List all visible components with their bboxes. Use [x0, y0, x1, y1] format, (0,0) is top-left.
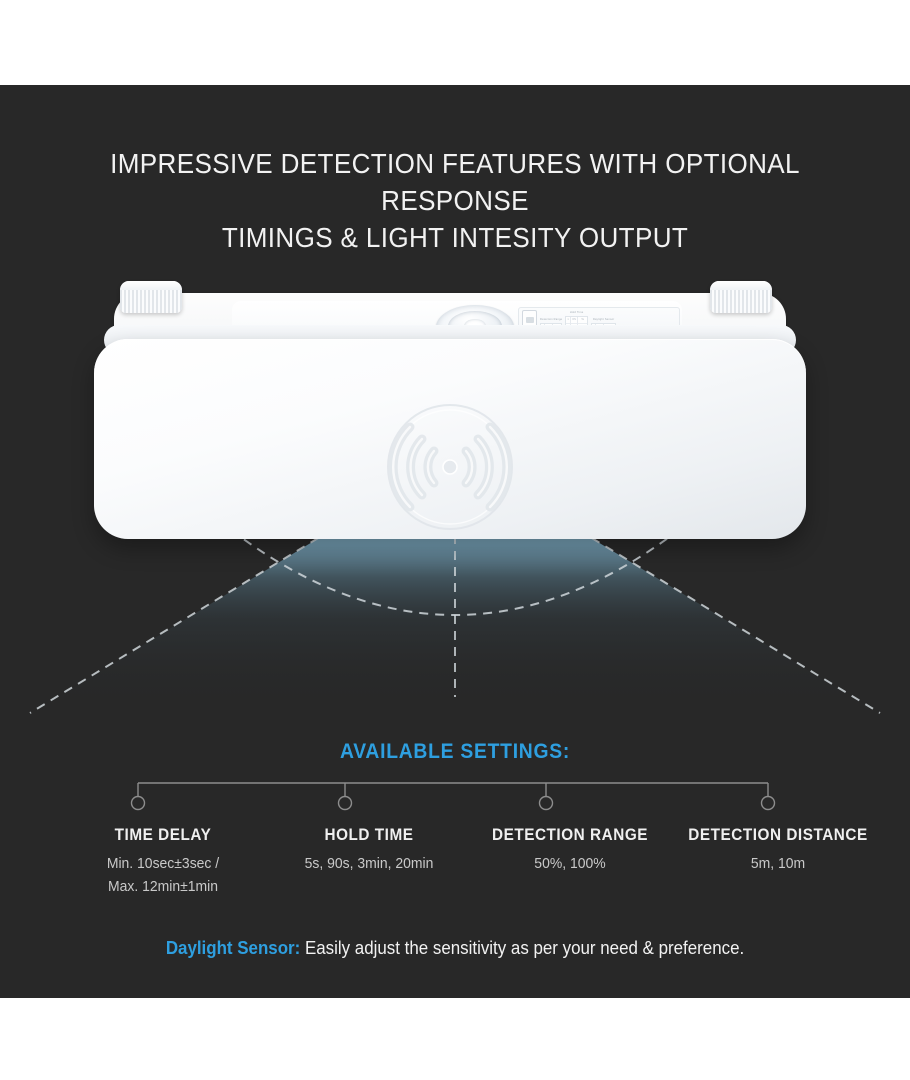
bracket-node	[540, 797, 553, 810]
page-title: IMPRESSIVE DETECTION FEATURES WITH OPTIO…	[64, 145, 845, 256]
setting-detection-distance: DETECTION DISTANCE 5m, 10m	[671, 825, 885, 875]
daylight-sensor-note: Daylight Sensor: Easily adjust the sensi…	[27, 938, 882, 959]
setting-value: Min. 10sec±3sec /Max. 12min±1min	[64, 852, 261, 898]
spec-group-header: Daylight Sensor	[591, 318, 616, 322]
setting-label: HOLD TIME	[279, 825, 459, 845]
knob-cap	[120, 281, 182, 290]
setting-value: 5m, 10m	[678, 852, 877, 875]
setting-value: 50%, 100%	[476, 852, 664, 875]
setting-value: 5s, 90s, 3min, 20min	[276, 852, 462, 875]
setting-detection-range: DETECTION RANGE 50%, 100%	[469, 825, 671, 875]
adjustment-knob-left-icon[interactable]	[120, 281, 182, 313]
settings-bracket	[0, 775, 910, 815]
daylight-sensor-label: Daylight Sensor:	[166, 938, 300, 958]
bracket-node	[339, 797, 352, 810]
motion-wave-emblem-icon	[384, 401, 516, 533]
knob-cap	[710, 281, 772, 290]
setting-label: DETECTION DISTANCE	[682, 825, 875, 845]
bracket-node	[132, 797, 145, 810]
spec-cell: ON	[571, 317, 578, 324]
setting-time-delay: TIME DELAY Min. 10sec±3sec /Max. 12min±1…	[57, 825, 269, 898]
headline-line-2: TIMINGS & LIGHT INTESITY OUTPUT	[64, 219, 845, 256]
spec-cell: 5s	[578, 317, 587, 324]
headline-line-1: IMPRESSIVE DETECTION FEATURES WITH OPTIO…	[64, 145, 845, 219]
setting-label: TIME DELAY	[68, 825, 259, 845]
product-feature-graphic: IMPRESSIVE DETECTION FEATURES WITH OPTIO…	[0, 0, 910, 1080]
dark-content-panel: IMPRESSIVE DETECTION FEATURES WITH OPTIO…	[0, 85, 910, 998]
settings-list: TIME DELAY Min. 10sec±3sec /Max. 12min±1…	[0, 825, 910, 898]
spec-cell: 1	[566, 317, 569, 324]
setting-label: DETECTION RANGE	[479, 825, 661, 845]
bracket-node	[762, 797, 775, 810]
setting-hold-time: HOLD TIME 5s, 90s, 3min, 20min	[269, 825, 469, 875]
adjustment-knob-right-icon[interactable]	[710, 281, 772, 313]
spec-group-header: Detection Range	[540, 318, 562, 322]
daylight-sensor-text: Easily adjust the sensitivity as per you…	[300, 938, 744, 958]
pir-sensor-device: Detection Range I II ON OFF 100%	[88, 281, 814, 546]
available-settings-title: AVAILABLE SETTINGS:	[36, 740, 873, 764]
spec-group-header: Hold Time	[565, 311, 588, 315]
